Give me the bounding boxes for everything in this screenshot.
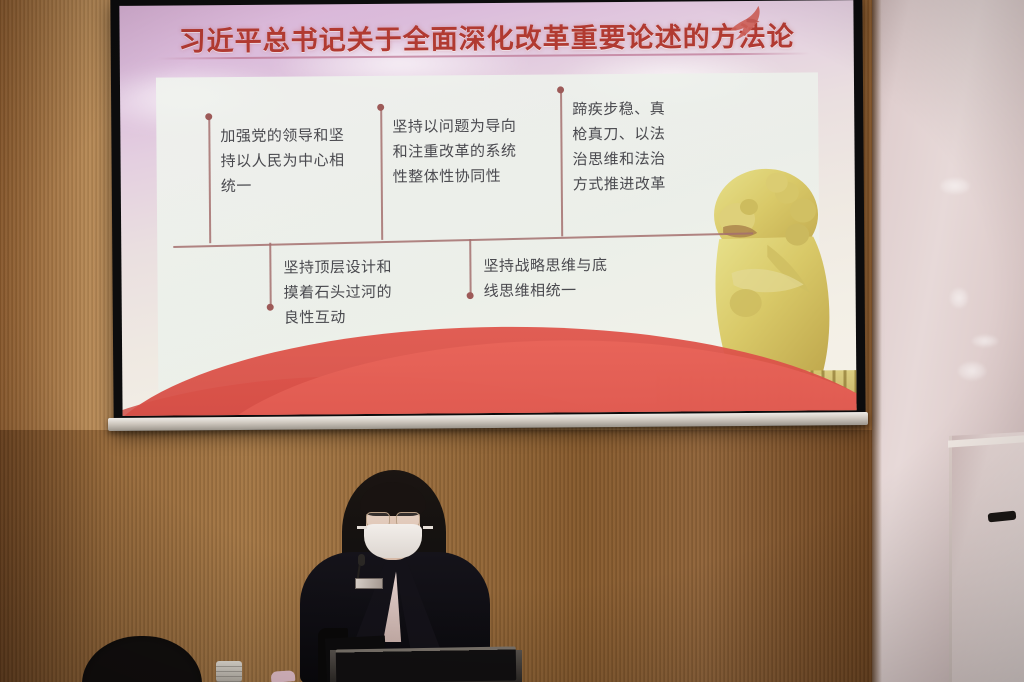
podium-monitor[interactable] (336, 646, 517, 682)
pink-desk-item (271, 670, 296, 682)
presentation-slide: 习近平总书记关于全面深化改革重要论述的方法论 (119, 0, 856, 416)
face-mask (364, 524, 422, 558)
dove-icon (724, 3, 768, 43)
whiteboard (949, 432, 1024, 682)
wall-smudge (950, 288, 968, 308)
timeline-item-5-text: 坚持战略思维与底 线思维相统一 (483, 254, 619, 305)
timeline-node-5 (467, 292, 474, 299)
timeline-item-1-text: 加强党的领导和坚 持以人民为中心相 统一 (220, 124, 357, 200)
timeline-item-4-text: 坚持顶层设计和 摸着石头过河的 良性互动 (283, 256, 410, 332)
wall-smudge (940, 178, 970, 194)
mask-strap-left (357, 526, 367, 529)
timeline-item-3-text: 蹄疾步稳、真 枪真刀、以法 治思维和法治 方式推进改革 (572, 97, 685, 198)
projection-screen: 习近平总书记关于全面深化改革重要论述的方法论 (110, 0, 865, 431)
timeline-item-2-text: 坚持以问题为导向 和注重改革的系统 性整体性协同性 (392, 115, 529, 191)
wall-corner-edge (872, 0, 882, 682)
timeline-node-1 (205, 113, 212, 120)
name-badge (355, 578, 383, 589)
timeline-node-3 (557, 86, 564, 93)
paper-cup-ridges (216, 666, 242, 682)
mask-strap-right (423, 526, 433, 529)
timeline-node-2 (377, 104, 384, 111)
presentation-room-scene: 习近平总书记关于全面深化改革重要论述的方法论 (0, 0, 1024, 682)
wall-smudge (958, 362, 986, 380)
wall-smudge (972, 335, 998, 347)
timeline-node-4 (267, 304, 274, 311)
